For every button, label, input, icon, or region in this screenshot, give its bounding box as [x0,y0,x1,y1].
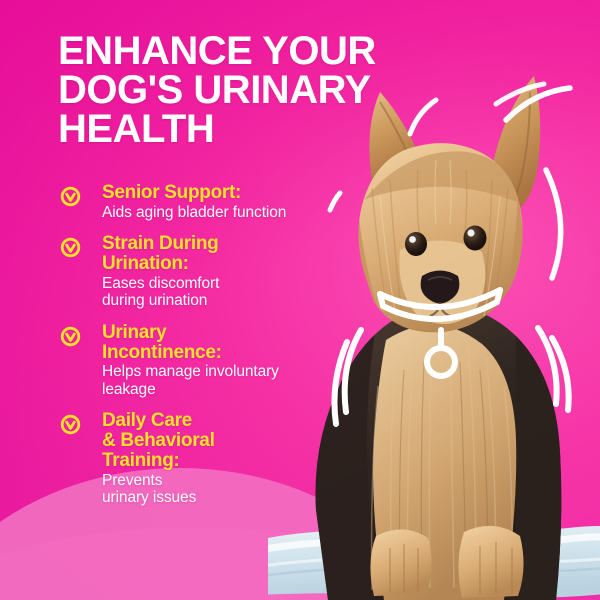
benefit-desc-line: urinary issues [102,489,356,507]
benefit-title-line: Incontinence: [102,343,356,363]
benefit-title-line: & Behavioral [102,431,356,451]
benefit-description: Aids aging bladder function [102,204,356,222]
right-eye [464,226,487,251]
benefit-title: Daily Care & Behavioral Training: [102,411,356,470]
list-item: Daily Care & Behavioral Training: Preven… [56,411,356,506]
circle-check-icon [60,237,81,258]
list-item: Senior Support: Aids aging bladder funct… [56,183,356,221]
benefit-title-line: Urinary [102,323,356,343]
benefit-title-line: Urination: [102,254,356,274]
benefit-desc-line: Helps manage involuntary [102,363,356,381]
circle-check-icon [60,186,81,207]
benefit-description: Helps manage involuntary leakage [102,363,356,398]
benefit-desc-line: Prevents [102,472,356,490]
benefit-title-line: Senior Support: [102,183,356,203]
benefit-description: Prevents urinary issues [102,472,356,507]
benefit-desc-line: Eases discomfort [102,275,356,293]
list-item: Strain During Urination: Eases discomfor… [56,234,356,310]
benefit-desc-line: leakage [102,381,356,399]
headline-line-2: Dog's Urinary [58,71,458,110]
circle-check-icon [60,326,81,347]
benefit-title: Senior Support: [102,183,356,203]
headline-line-1: Enhance your [58,32,458,71]
page-title: Enhance your Dog's Urinary Health [58,32,458,148]
headline-line-3: Health [58,110,458,149]
benefit-desc-line: Aids aging bladder function [102,204,356,222]
benefit-title: Urinary Incontinence: [102,323,356,363]
benefit-description: Eases discomfort during urination [102,275,356,310]
benefit-list: Senior Support: Aids aging bladder funct… [56,183,356,507]
left-eye [405,232,427,256]
benefit-title-line: Daily Care [102,411,356,431]
list-item: Urinary Incontinence: Helps manage invol… [56,323,356,399]
benefit-title-line: Training: [102,451,356,471]
circle-check-icon [60,414,81,435]
benefit-title-line: Strain During [102,234,356,254]
benefit-title: Strain During Urination: [102,234,356,274]
benefit-desc-line: during urination [102,292,356,310]
product-benefit-poster: Enhance your Dog's Urinary Health Senior… [0,0,600,600]
